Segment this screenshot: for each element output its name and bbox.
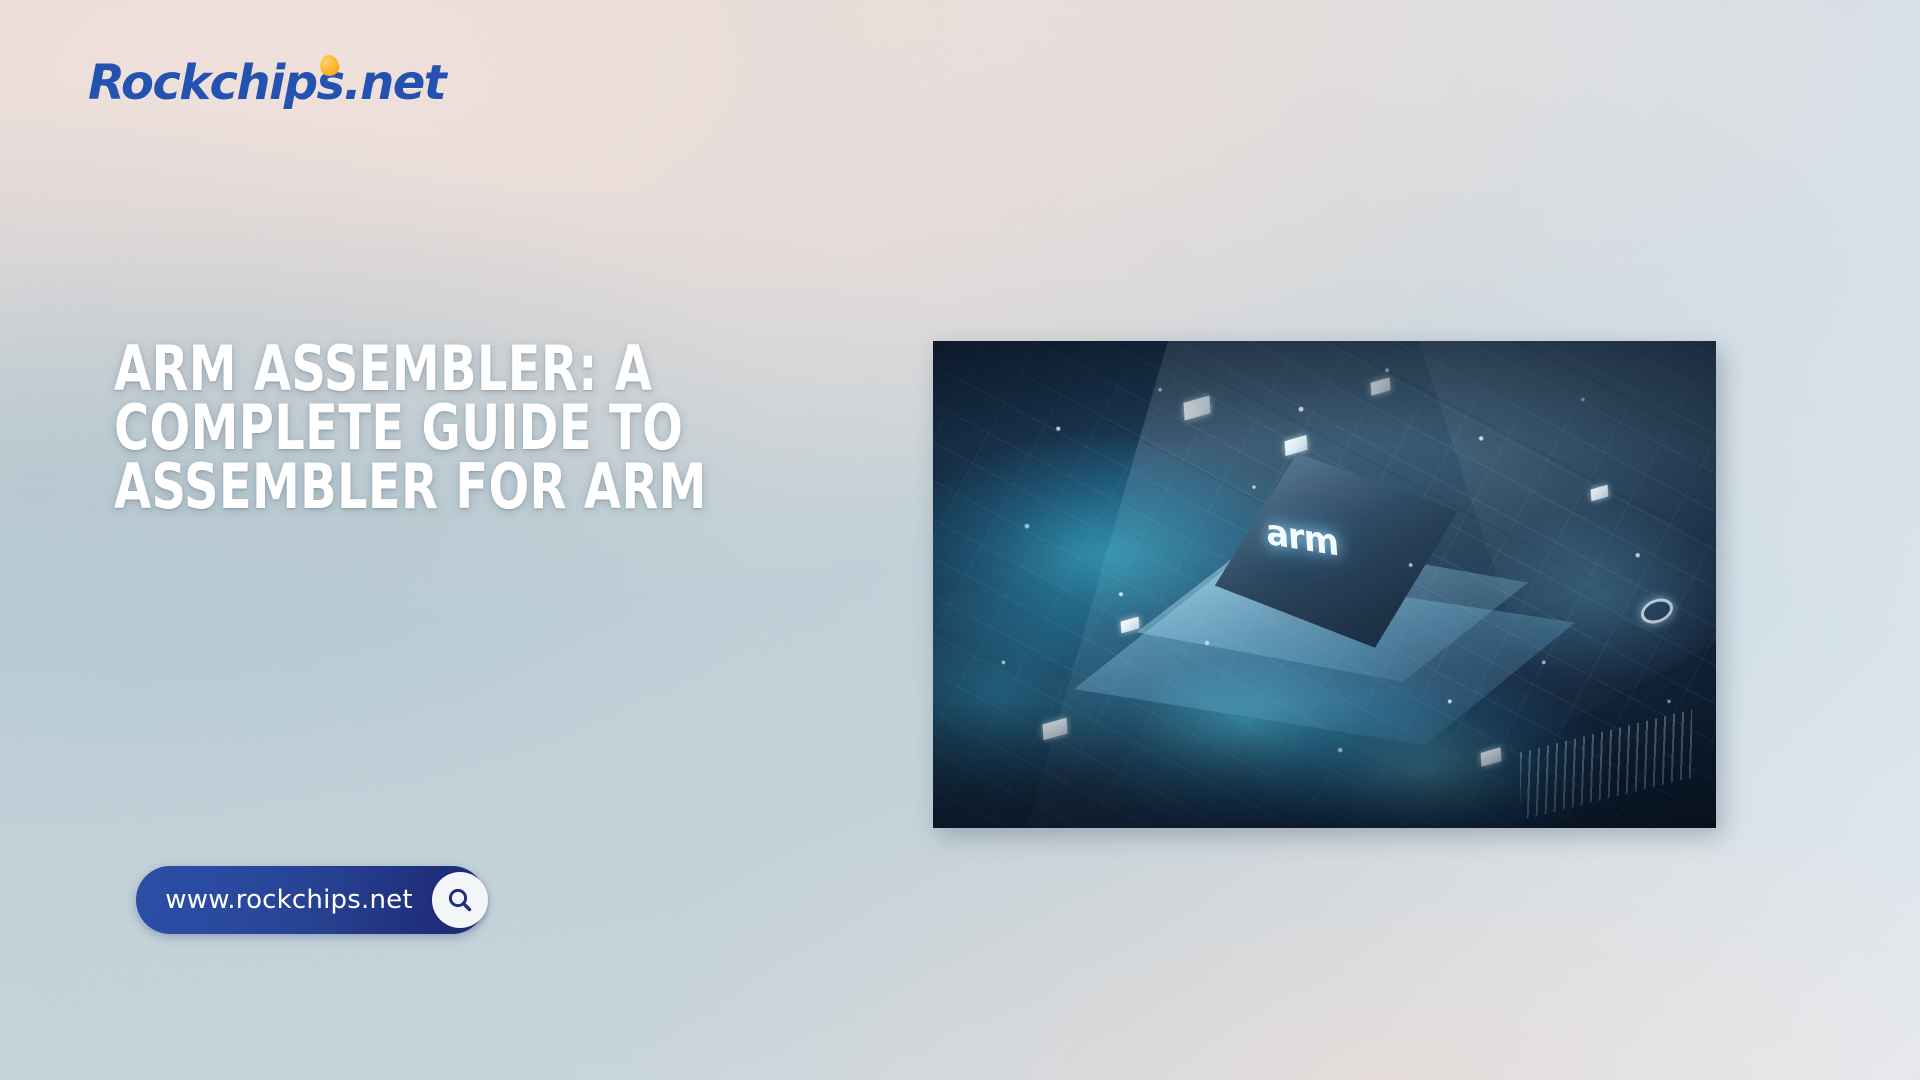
website-url-pill[interactable]: www.rockchips.net (136, 866, 486, 934)
search-icon[interactable] (432, 872, 488, 928)
page-title: ARM ASSEMBLER: A COMPLETE GUIDE TO ASSEM… (114, 340, 734, 517)
logo-wordmark-wrapper: Rockchips.net (88, 59, 445, 107)
featured-image-banner: Rockchips.net ARM ASSEMBLER: A COMPLETE … (0, 0, 1920, 1080)
site-logo[interactable]: Rockchips.net (88, 50, 445, 116)
hero-image-vignette (933, 341, 1716, 828)
hero-image: arm (933, 341, 1716, 828)
website-url-label: www.rockchips.net (165, 885, 412, 915)
headline-line-2: COMPLETE GUIDE TO (114, 399, 647, 458)
headline-text: ARM ASSEMBLER: A COMPLETE GUIDE TO ASSEM… (114, 340, 647, 517)
logo-wordmark: Rockchips.net (88, 55, 445, 111)
headline-line-3: ASSEMBLER FOR ARM (114, 458, 647, 517)
